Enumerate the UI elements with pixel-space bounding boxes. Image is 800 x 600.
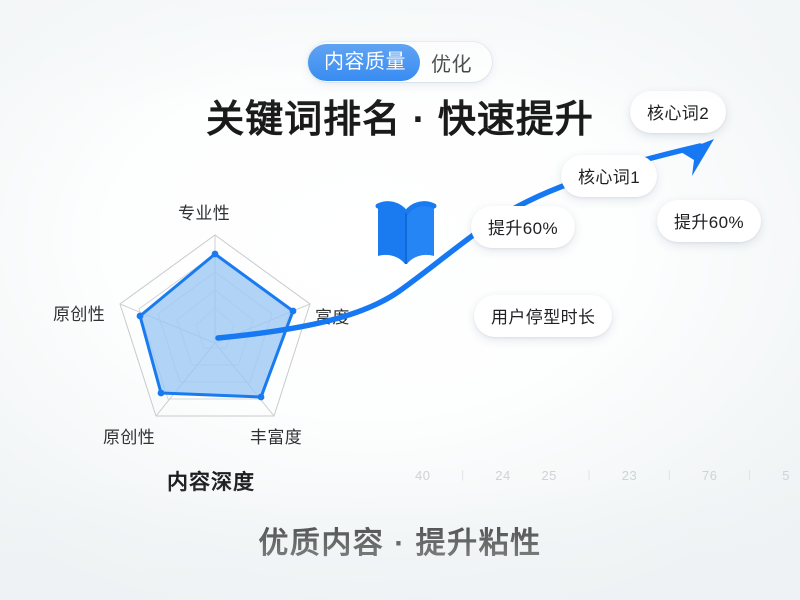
poster-canvas: 专业性 富度 丰富度 原创性 原创性 内容深度 内容质量 优化 关键词排名 · … xyxy=(0,0,800,600)
radar-caption: 内容深度 xyxy=(167,466,255,496)
badge-pill-label: 内容质量 xyxy=(308,44,420,81)
callout-chip-uplift-right[interactable]: 提升60% xyxy=(657,200,761,242)
faint-scale-axis: 40 | 24 25 | 23 | 76 | 5 xyxy=(415,463,790,487)
radar-axis-label-left: 原创性 xyxy=(53,300,105,325)
scale-value: 76 xyxy=(702,468,717,483)
scale-tick: | xyxy=(668,469,671,481)
badge-suffix-label: 优化 xyxy=(420,48,488,77)
callout-chip-keyword-1[interactable]: 核心词1 xyxy=(561,155,657,197)
scale-value: 23 xyxy=(622,468,637,483)
radar-axis-label-bottom-right: 丰富度 xyxy=(250,423,302,448)
radar-axis-label-right: 富度 xyxy=(315,303,350,328)
radar-chart-svg xyxy=(20,195,380,475)
scale-tick: | xyxy=(461,469,464,481)
callout-chip-keyword-2[interactable]: 核心词2 xyxy=(630,91,726,133)
radar-axis-label-bottom-left: 原创性 xyxy=(103,423,155,448)
open-book-icon xyxy=(370,186,442,270)
callout-chip-uplift-left[interactable]: 提升60% xyxy=(471,206,575,248)
status-badge[interactable]: 内容质量 优化 xyxy=(308,42,492,82)
page-title: 关键词排名 · 快速提升 xyxy=(206,88,594,143)
scale-value: 40 xyxy=(415,468,430,483)
scale-value: 25 xyxy=(541,468,556,483)
scale-tick: | xyxy=(588,469,591,481)
callout-chip-dwell-time[interactable]: 用户停型时长 xyxy=(474,295,612,337)
scale-value: 24 xyxy=(495,468,510,483)
radar-chart xyxy=(20,195,380,480)
scale-tick: | xyxy=(748,469,751,481)
radar-axis-label-top: 专业性 xyxy=(178,199,230,224)
scale-value: 5 xyxy=(782,468,790,483)
page-footer-title: 优质内容 · 提升粘性 xyxy=(258,518,541,562)
